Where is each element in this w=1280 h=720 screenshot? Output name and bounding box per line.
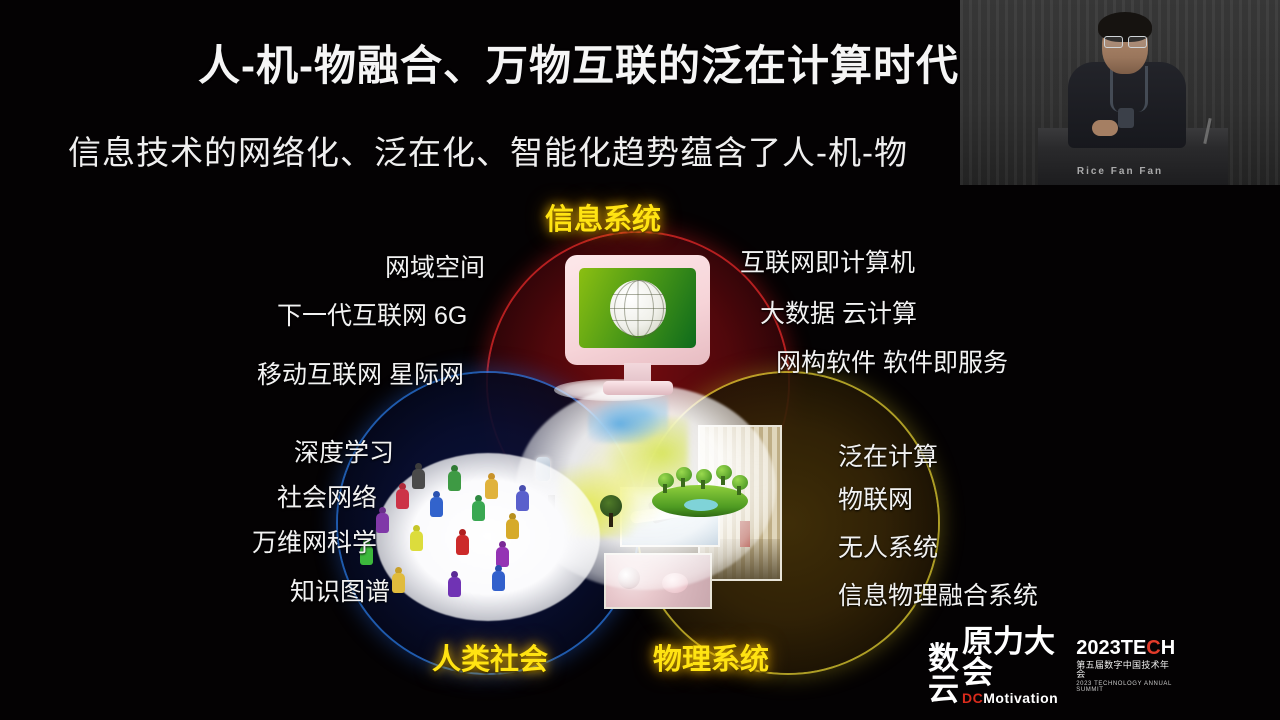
video-caption: Rice Fan Fan (960, 166, 1280, 177)
person-figure (376, 507, 389, 533)
person-figure (496, 541, 509, 567)
person-figure (485, 473, 498, 499)
person-figure (410, 525, 423, 551)
keyword-top-left-1: 网域空间 (385, 248, 485, 284)
person-figure (430, 491, 443, 517)
keyword-top-left-3: 移动互联网 星际网 (257, 355, 464, 391)
person-figure (492, 565, 505, 591)
venn-label-physical-system: 物理系统 (653, 636, 769, 678)
speaker-video-overlay[interactable]: Rice Fan Fan (960, 0, 1280, 185)
venn-label-human-society: 人类社会 (432, 636, 548, 678)
keyword-bottom-right-1: 泛在计算 (838, 437, 938, 473)
keyword-bottom-right-3: 无人系统 (838, 528, 938, 564)
person-figure (516, 485, 529, 511)
green-island-illustration (652, 463, 748, 519)
keyword-bottom-right-2: 物联网 (838, 480, 913, 516)
logo-tech-b: H (1161, 637, 1175, 659)
person-figure (456, 529, 469, 555)
badge (1118, 108, 1134, 128)
page-title: 人-机-物融合、万物互联的泛在计算时代 (198, 32, 959, 93)
logo-year: 2023 (1076, 637, 1121, 659)
logo-brand-en-dc: DC (962, 690, 983, 706)
logo-brand-en-motivation: Motivation (983, 690, 1058, 706)
presentation-slide: 人-机-物融合、万物互联的泛在计算时代 信息技术的网络化、泛在化、智能化趋势蕴含… (0, 0, 1280, 720)
logo-tech-a: TE (1121, 637, 1147, 659)
keyword-bottom-left-1: 深度学习 (294, 433, 394, 469)
person-figure (506, 513, 519, 539)
keyword-bottom-left-2: 社会网络 (277, 478, 377, 514)
computer-monitor-illustration (565, 255, 710, 405)
keyword-top-left-2: 下一代互联网 6G (277, 296, 467, 332)
person-figure (472, 495, 485, 521)
person-figure (396, 483, 409, 509)
tree-icon (600, 495, 622, 527)
keyword-bottom-right-4: 信息物理融合系统 (838, 576, 1038, 612)
logo-summit-en: 2023 TECHNOLOGY ANNUAL SUMMIT (1076, 681, 1175, 693)
globe-icon (610, 280, 666, 336)
keyword-bottom-left-3: 万维网科学 (252, 523, 377, 559)
venn-label-information-system: 信息系统 (545, 196, 661, 238)
keyword-top-right-1: 互联网即计算机 (740, 243, 915, 279)
logo-brand-cn-1: 数云 (928, 643, 959, 705)
person-figure (448, 465, 461, 491)
speaker-hand (1092, 120, 1118, 136)
keyword-top-right-3: 网构软件 软件即服务 (776, 343, 1008, 379)
keyword-bottom-left-4: 知识图谱 (290, 572, 390, 608)
conference-logo: 数云 原力大会 DCMotivation 2023TECH 第五届数字中国技术年… (928, 636, 1164, 694)
eyeglasses-icon (1104, 36, 1147, 46)
logo-brand-cn-2: 原力大会 (962, 626, 1058, 688)
person-figure (412, 463, 425, 489)
person-figure (392, 567, 405, 593)
page-subtitle: 信息技术的网络化、泛在化、智能化趋势蕴含了人-机-物 (68, 126, 908, 174)
logo-summit-cn: 第五届数字中国技术年会 (1076, 661, 1175, 679)
person-figure (448, 571, 461, 597)
keyword-top-right-2: 大数据 云计算 (760, 294, 917, 330)
